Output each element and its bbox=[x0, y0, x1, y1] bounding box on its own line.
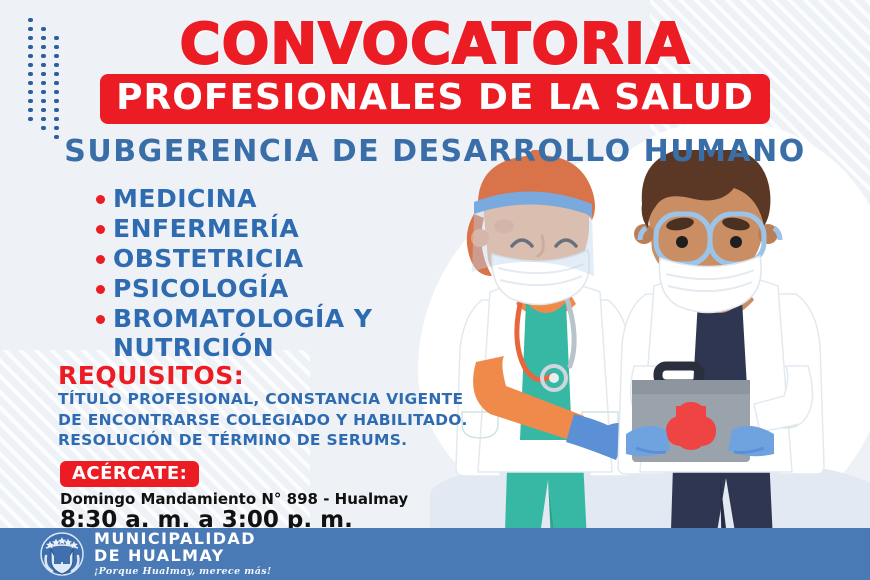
male-doctor-figure bbox=[618, 150, 824, 577]
specialty-label: OBSTETRICIA bbox=[113, 244, 304, 273]
poster-root: CONVOCATORIA PROFESIONALES DE LA SALUD S… bbox=[0, 0, 870, 580]
specialty-label: BROMATOLOGÍA YNUTRICIÓN bbox=[113, 304, 372, 362]
requisitos-title: REQUISITOS: bbox=[58, 363, 508, 389]
page-title-convocatoria: CONVOCATORIA bbox=[0, 12, 870, 77]
bullet-icon bbox=[96, 285, 105, 294]
list-item: MEDICINA bbox=[96, 184, 426, 213]
bullet-icon bbox=[96, 255, 105, 264]
specialty-label: ENFERMERÍA bbox=[113, 214, 299, 243]
acercate-badge: ACÉRCATE: bbox=[60, 461, 199, 487]
acercate-block: ACÉRCATE: Domingo Mandamiento N° 898 - H… bbox=[60, 461, 460, 532]
subtitle-subgerencia: SUBGERENCIA DE DESARROLLO HUMANO bbox=[0, 134, 870, 169]
list-item: ENFERMERÍA bbox=[96, 214, 426, 243]
footer-inner: MUNICIPALIDAD DE HUALMAY ¡Porque Hualmay… bbox=[0, 528, 870, 580]
headline-banner-wrap: PROFESIONALES DE LA SALUD bbox=[0, 74, 870, 124]
list-item: PSICOLOGÍA bbox=[96, 274, 426, 303]
requisitos-block: REQUISITOS: TÍTULO PROFESIONAL, CONSTANC… bbox=[58, 363, 508, 451]
specialty-label: PSICOLOGÍA bbox=[113, 274, 289, 303]
footer-text-block: MUNICIPALIDAD DE HUALMAY ¡Porque Hualmay… bbox=[94, 531, 272, 577]
list-item: BROMATOLOGÍA YNUTRICIÓN bbox=[96, 304, 426, 362]
bullet-icon bbox=[96, 195, 105, 204]
list-item: OBSTETRICIA bbox=[96, 244, 426, 273]
headline-profesionales-salud: PROFESIONALES DE LA SALUD bbox=[100, 74, 770, 124]
address-text: Domingo Mandamiento N° 898 - Hualmay bbox=[60, 491, 460, 508]
specialty-list: MEDICINA ENFERMERÍA OBSTETRICIA PSICOLOG… bbox=[96, 184, 426, 363]
footer-slogan: ¡Porque Hualmay, merece más! bbox=[94, 566, 272, 577]
footer-org-line2: DE HUALMAY bbox=[94, 548, 272, 564]
bullet-icon bbox=[96, 315, 105, 324]
footer-bar: MUNICIPALIDAD DE HUALMAY ¡Porque Hualmay… bbox=[0, 528, 870, 580]
bullet-icon bbox=[96, 225, 105, 234]
requisitos-line: RESOLUCIÓN DE TÉRMINO DE SERUMS. bbox=[58, 430, 508, 451]
requisitos-line: DE ENCONTRARSE COLEGIADO Y HABILITADO. bbox=[58, 410, 508, 431]
municipal-crest-icon bbox=[40, 532, 84, 576]
specialty-label: MEDICINA bbox=[113, 184, 257, 213]
requisitos-line: TÍTULO PROFESIONAL, CONSTANCIA VIGENTE bbox=[58, 389, 508, 410]
